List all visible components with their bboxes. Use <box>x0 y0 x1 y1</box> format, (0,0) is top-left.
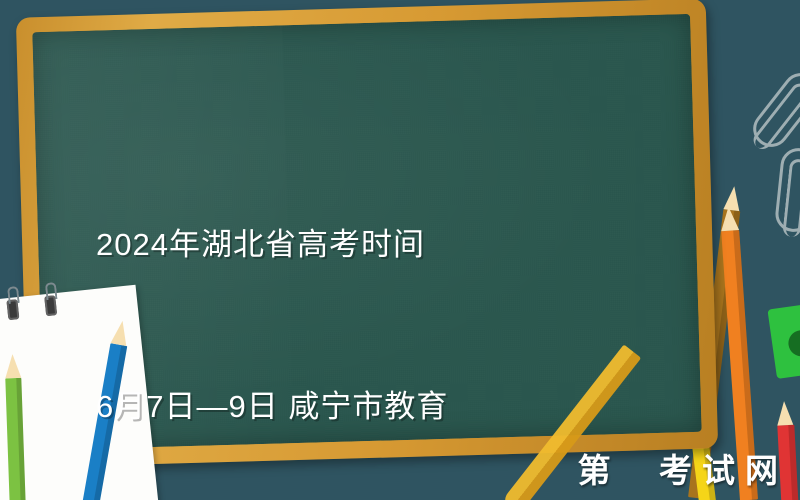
green-pencil-wood <box>4 354 21 379</box>
notepad-spiral-2 <box>6 299 19 320</box>
screenshot-canvas: 2024年湖北省高考时间 6月7日—9日 咸宁市教育 局温 提醒公布 第 考试网 <box>0 0 800 500</box>
headline-text: 2024年湖北省高考时间 6月7日—9日 咸宁市教育 局温 提醒公布 <box>96 110 676 500</box>
sharpener-hole <box>787 329 800 358</box>
notepad-spiral-3 <box>44 295 57 316</box>
headline-line-1: 2024年湖北省高考时间 <box>96 218 676 272</box>
site-watermark: 第 考试网 <box>578 444 788 492</box>
orange-pencil-wood <box>720 206 740 231</box>
red-pencil-wood <box>776 401 793 426</box>
headline-line-2: 6月7日—9日 咸宁市教育 <box>96 380 676 434</box>
